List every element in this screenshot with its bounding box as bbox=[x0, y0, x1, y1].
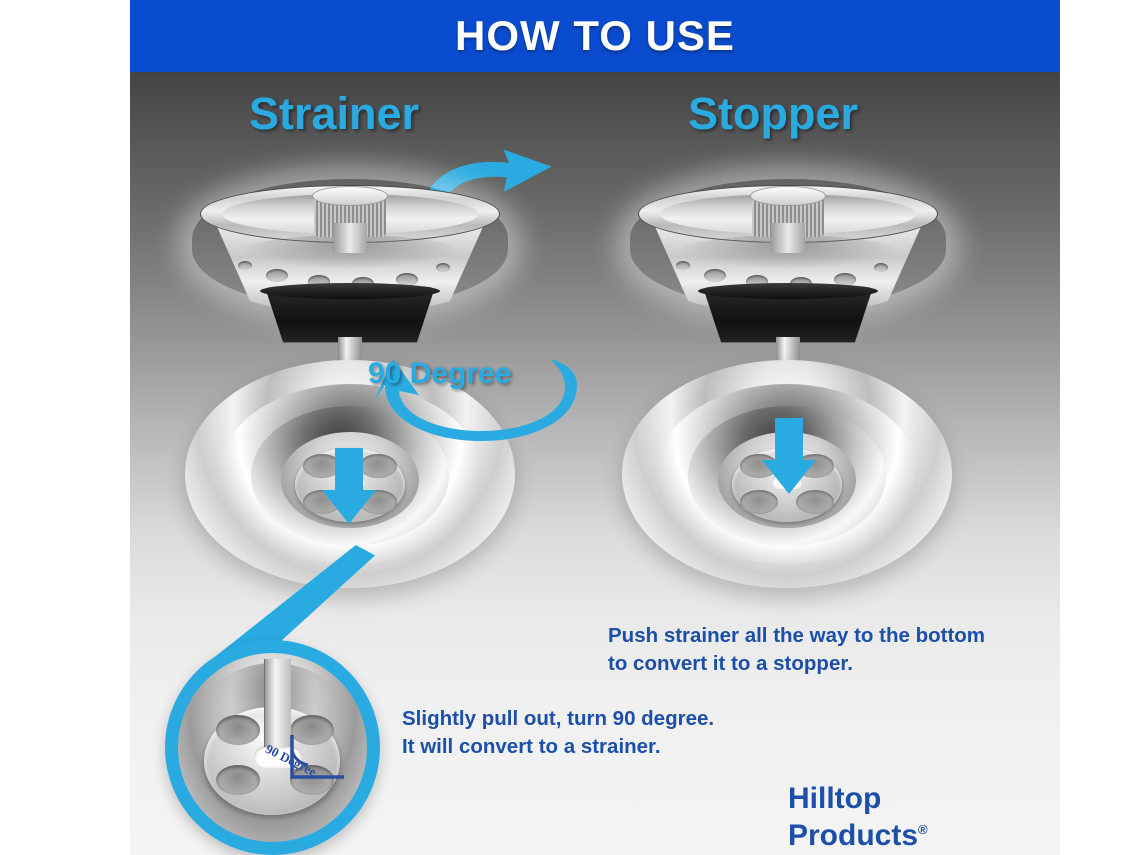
strainer-hole bbox=[704, 269, 726, 282]
magnified-grid-gap bbox=[216, 715, 260, 745]
strainer-hole bbox=[266, 269, 288, 282]
caption-stopper-line1: Push strainer all the way to the bottom bbox=[608, 622, 985, 650]
rubber-gasket-top bbox=[260, 283, 440, 299]
strainer-hole bbox=[676, 261, 690, 270]
header-bar: HOW TO USE bbox=[130, 0, 1060, 72]
caption-stopper: Push strainer all the way to the bottom … bbox=[608, 622, 985, 678]
magnified-detail-circle: 90 Degree bbox=[165, 640, 380, 855]
strainer-knob-stem bbox=[771, 223, 805, 253]
rubber-gasket-top bbox=[698, 283, 878, 299]
column-title-stopper: Stopper bbox=[688, 88, 858, 140]
product-instruction-image: Strainer bbox=[0, 0, 1140, 855]
logo-line2-wrap: Products® bbox=[788, 814, 928, 851]
registered-trademark-icon: ® bbox=[918, 822, 928, 837]
caption-stopper-line2: to convert it to a stopper. bbox=[608, 650, 985, 678]
strainer-knob-top bbox=[750, 186, 826, 206]
column-title-strainer: Strainer bbox=[249, 88, 419, 140]
logo-line1: Hilltop bbox=[788, 783, 928, 814]
image-plate: Strainer bbox=[130, 0, 1060, 855]
strainer-hole bbox=[238, 261, 252, 270]
strainer-hole bbox=[874, 263, 888, 272]
logo-line2: Products bbox=[788, 819, 918, 852]
caption-strainer: Slightly pull out, turn 90 degree. It wi… bbox=[402, 705, 714, 761]
strainer-knob-stem bbox=[333, 223, 367, 253]
drain-grid-gap bbox=[359, 454, 397, 478]
caption-strainer-line2: It will convert to a strainer. bbox=[402, 733, 714, 761]
caption-strainer-line1: Slightly pull out, turn 90 degree. bbox=[402, 705, 714, 733]
magnified-grid-gap bbox=[216, 765, 260, 795]
strainer-basket-left bbox=[200, 185, 500, 375]
strainer-hole bbox=[436, 263, 450, 272]
strainer-basket-right bbox=[638, 185, 938, 375]
page-title: HOW TO USE bbox=[455, 12, 735, 60]
brand-logo: Hilltop Products® bbox=[788, 783, 928, 851]
strainer-knob-top bbox=[312, 186, 388, 206]
rotation-degree-label: 90 Degree bbox=[368, 357, 511, 391]
